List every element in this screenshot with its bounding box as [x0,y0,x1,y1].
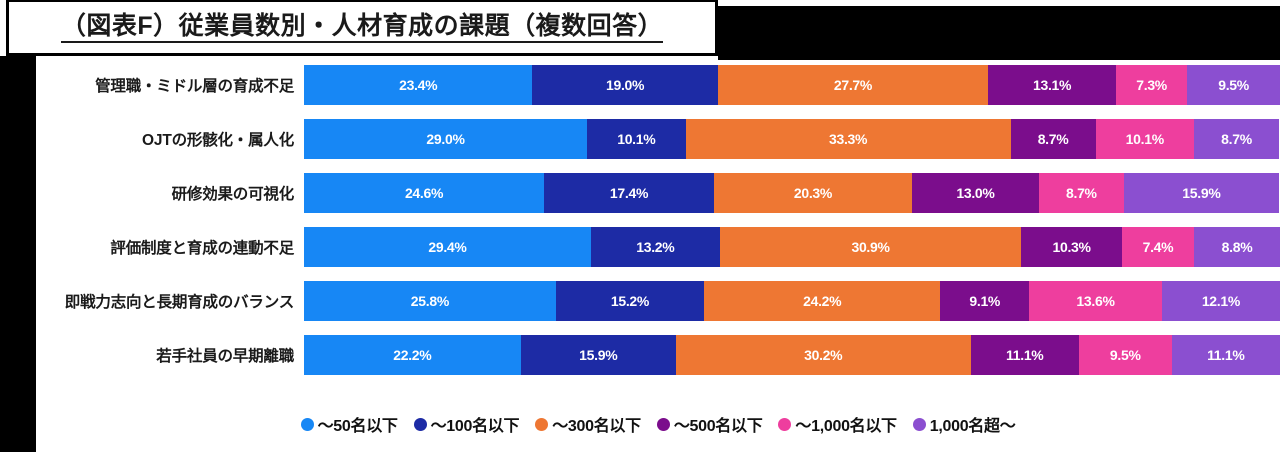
stacked-bar: 23.4%19.0%27.7%13.1%7.3%9.5% [304,65,1280,105]
slide-figure-f: （図表F）従業員数別・人材育成の課題（複数回答） 管理職・ミドル層の育成不足23… [0,0,1280,452]
stacked-bar: 24.6%17.4%20.3%13.0%8.7%15.9% [304,173,1280,213]
bar-segment[interactable]: 23.4% [304,65,532,105]
bar-segment[interactable]: 25.8% [304,281,556,321]
bar-segment[interactable]: 9.5% [1079,335,1172,375]
legend-dot-icon [657,418,670,431]
legend-item[interactable]: ～50名以下 [301,412,398,436]
bar-segment[interactable]: 27.7% [718,65,988,105]
row-category-label: 即戦力志向と長期育成のバランス [36,290,304,312]
row-category-label: 管理職・ミドル層の育成不足 [36,74,304,96]
bar-segment[interactable]: 29.4% [304,227,591,267]
legend-item[interactable]: ～1,000名以下 [778,412,896,436]
stacked-bar: 22.2%15.9%30.2%11.1%9.5%11.1% [304,335,1280,375]
bar-segment[interactable]: 15.9% [521,335,676,375]
legend-label: ～300名以下 [552,412,641,436]
chart-legend: ～50名以下～100名以下～300名以下～500名以下～1,000名以下1,00… [36,412,1280,436]
chart-row: 即戦力志向と長期育成のバランス25.8%15.2%24.2%9.1%13.6%1… [36,281,1280,321]
bar-segment[interactable]: 24.2% [704,281,940,321]
legend-label: ～1,000名以下 [795,412,896,436]
bar-segment[interactable]: 7.3% [1116,65,1187,105]
chart-row: 若手社員の早期離職22.2%15.9%30.2%11.1%9.5%11.1% [36,335,1280,375]
bar-segment[interactable]: 33.3% [686,119,1011,159]
bar-segment[interactable]: 10.1% [587,119,686,159]
bar-segment[interactable]: 30.2% [676,335,971,375]
bar-segment[interactable]: 13.2% [591,227,720,267]
legend-item[interactable]: ～300名以下 [535,412,641,436]
legend-dot-icon [301,418,314,431]
bar-segment[interactable]: 10.1% [1096,119,1195,159]
bar-segment[interactable]: 8.8% [1194,227,1280,267]
bar-segment[interactable]: 29.0% [304,119,587,159]
bar-segment[interactable]: 8.7% [1011,119,1096,159]
chart-rows: 管理職・ミドル層の育成不足23.4%19.0%27.7%13.1%7.3%9.5… [36,65,1280,389]
legend-item[interactable]: ～100名以下 [414,412,520,436]
bar-segment[interactable]: 13.6% [1029,281,1162,321]
legend-item[interactable]: 1,000名超～ [913,412,1016,436]
bar-segment[interactable]: 13.1% [988,65,1116,105]
slide-shadow-left [0,56,36,452]
bar-segment[interactable]: 7.4% [1122,227,1194,267]
legend-dot-icon [535,418,548,431]
bar-segment[interactable]: 17.4% [544,173,714,213]
legend-dot-icon [414,418,427,431]
bar-segment[interactable]: 24.6% [304,173,544,213]
row-category-label: 研修効果の可視化 [36,182,304,204]
legend-label: ～50名以下 [318,412,398,436]
bar-segment[interactable]: 11.1% [1172,335,1280,375]
legend-dot-icon [913,418,926,431]
stacked-bar: 25.8%15.2%24.2%9.1%13.6%12.1% [304,281,1280,321]
bar-segment[interactable]: 8.7% [1194,119,1279,159]
chart-row: OJTの形骸化・属人化29.0%10.1%33.3%8.7%10.1%8.7% [36,119,1280,159]
legend-item[interactable]: ～500名以下 [657,412,763,436]
legend-label: ～500名以下 [674,412,763,436]
row-category-label: OJTの形骸化・属人化 [36,128,304,150]
row-category-label: 若手社員の早期離職 [36,344,304,366]
chart-row: 研修効果の可視化24.6%17.4%20.3%13.0%8.7%15.9% [36,173,1280,213]
bar-segment[interactable]: 9.1% [940,281,1029,321]
bar-segment[interactable]: 8.7% [1039,173,1124,213]
bar-segment[interactable]: 12.1% [1162,281,1280,321]
chart-row: 管理職・ミドル層の育成不足23.4%19.0%27.7%13.1%7.3%9.5… [36,65,1280,105]
stacked-bar: 29.0%10.1%33.3%8.7%10.1%8.7% [304,119,1280,159]
bar-segment[interactable]: 10.3% [1021,227,1122,267]
page-title: （図表F）従業員数別・人材育成の課題（複数回答） [61,12,663,44]
stacked-bar-chart: 管理職・ミドル層の育成不足23.4%19.0%27.7%13.1%7.3%9.5… [36,60,1280,452]
figure-title-box: （図表F）従業員数別・人材育成の課題（複数回答） [6,0,718,56]
bar-segment[interactable]: 9.5% [1187,65,1280,105]
bar-segment[interactable]: 22.2% [304,335,521,375]
bar-segment[interactable]: 19.0% [532,65,717,105]
bar-segment[interactable]: 11.1% [971,335,1079,375]
bar-segment[interactable]: 13.0% [912,173,1039,213]
stacked-bar: 29.4%13.2%30.9%10.3%7.4%8.8% [304,227,1280,267]
row-category-label: 評価制度と育成の連動不足 [36,236,304,258]
chart-row: 評価制度と育成の連動不足29.4%13.2%30.9%10.3%7.4%8.8% [36,227,1280,267]
bar-segment[interactable]: 15.2% [556,281,704,321]
legend-dot-icon [778,418,791,431]
legend-label: ～100名以下 [431,412,520,436]
legend-label: 1,000名超～ [930,412,1016,436]
bar-segment[interactable]: 20.3% [714,173,912,213]
bar-segment[interactable]: 15.9% [1124,173,1279,213]
bar-segment[interactable]: 30.9% [720,227,1022,267]
slide-shadow-title-right [718,6,1280,60]
